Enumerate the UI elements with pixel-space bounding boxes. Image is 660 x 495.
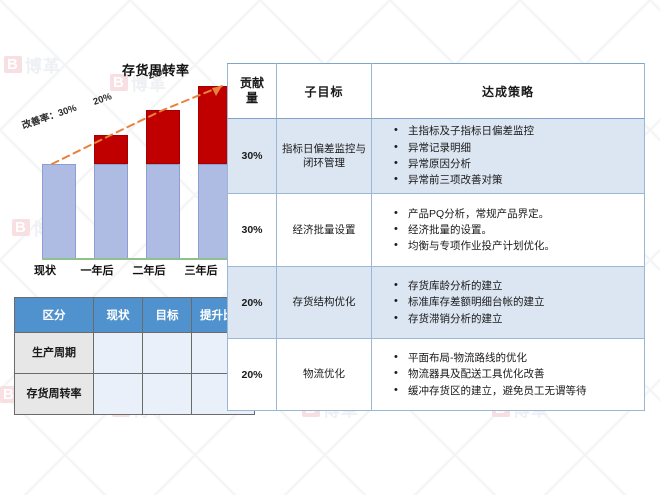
cell-sub-goal: 物流优化 xyxy=(277,339,372,411)
col-header-category: 区分 xyxy=(15,298,94,333)
cell-current[interactable] xyxy=(94,333,143,374)
table-header-row: 区分 现状 目标 提升比例 xyxy=(15,298,255,333)
table-row: 存货周转率 xyxy=(15,374,255,415)
list-item: 异常原因分析 xyxy=(394,156,638,172)
chart-category-label-3: 三年后 xyxy=(173,262,229,278)
table-row: 20% 存货结构优化 存货库龄分析的建立 标准库存差额明细台帐的建立 存货滞销分… xyxy=(228,267,645,339)
table-row: 30% 指标日偏差监控与闭环管理 主指标及子指标日偏差监控 异常记录明细 异常原… xyxy=(228,119,645,194)
slide-canvas: 存货周转率 xyxy=(0,0,660,495)
list-item: 存货滞销分析的建立 xyxy=(394,311,638,327)
strategy-table: 贡献 量 子目标 达成策略 30% 指标日偏差监控与闭环管理 主指标及子指标日偏… xyxy=(227,63,645,411)
cell-current[interactable] xyxy=(94,374,143,415)
chart-category-label-0: 现状 xyxy=(17,262,73,278)
inventory-turnover-chart: 存货周转率 xyxy=(0,48,228,280)
strategy-list: 平面布局-物流路线的优化 物流器具及配送工具优化改善 缓冲存货区的建立，避免员工… xyxy=(394,350,638,399)
cell-contribution: 20% xyxy=(228,339,277,411)
list-item: 平面布局-物流路线的优化 xyxy=(394,350,638,366)
list-item: 物流器具及配送工具优化改善 xyxy=(394,366,638,382)
col-header-sub-goal: 子目标 xyxy=(277,64,372,119)
cell-strategies: 主指标及子指标日偏差监控 异常记录明细 异常原因分析 异常前三项改善对策 xyxy=(372,119,645,194)
row-label-inventory-turnover: 存货周转率 xyxy=(15,374,94,415)
cell-strategies: 产品PQ分析，常规产品界定。 经济批量的设置。 均衡与专项作业投产计划优化。 xyxy=(372,194,645,267)
cell-target[interactable] xyxy=(143,374,192,415)
cell-sub-goal: 指标日偏差监控与闭环管理 xyxy=(277,119,372,194)
strategy-list: 产品PQ分析，常规产品界定。 经济批量的设置。 均衡与专项作业投产计划优化。 xyxy=(394,206,638,255)
cell-contribution: 30% xyxy=(228,119,277,194)
strategy-list: 存货库龄分析的建立 标准库存差额明细台帐的建立 存货滞销分析的建立 xyxy=(394,278,638,327)
list-item: 异常记录明细 xyxy=(394,140,638,156)
row-label-production-cycle: 生产周期 xyxy=(15,333,94,374)
table-row: 20% 物流优化 平面布局-物流路线的优化 物流器具及配送工具优化改善 缓冲存货… xyxy=(228,339,645,411)
list-item: 存货库龄分析的建立 xyxy=(394,278,638,294)
cell-sub-goal: 经济批量设置 xyxy=(277,194,372,267)
summary-table: 区分 现状 目标 提升比例 生产周期 存货周转率 xyxy=(14,297,255,415)
list-item: 产品PQ分析，常规产品界定。 xyxy=(394,206,638,222)
col-header-contribution: 贡献 量 xyxy=(228,64,277,119)
trend-line xyxy=(24,48,252,262)
list-item: 缓冲存货区的建立，避免员工无谓等待 xyxy=(394,383,638,399)
cell-strategies: 存货库龄分析的建立 标准库存差额明细台帐的建立 存货滞销分析的建立 xyxy=(372,267,645,339)
cell-contribution: 20% xyxy=(228,267,277,339)
list-item: 主指标及子指标日偏差监控 xyxy=(394,123,638,139)
strategy-table-header-row: 贡献 量 子目标 达成策略 xyxy=(228,64,645,119)
list-item: 标准库存差额明细台帐的建立 xyxy=(394,294,638,310)
strategy-list: 主指标及子指标日偏差监控 异常记录明细 异常原因分析 异常前三项改善对策 xyxy=(394,123,638,188)
cell-strategies: 平面布局-物流路线的优化 物流器具及配送工具优化改善 缓冲存货区的建立，避免员工… xyxy=(372,339,645,411)
chart-category-label-1: 一年后 xyxy=(69,262,125,278)
table-row: 30% 经济批量设置 产品PQ分析，常规产品界定。 经济批量的设置。 均衡与专项… xyxy=(228,194,645,267)
col-header-target: 目标 xyxy=(143,298,192,333)
col-header-current: 现状 xyxy=(94,298,143,333)
list-item: 经济批量的设置。 xyxy=(394,222,638,238)
cell-contribution: 30% xyxy=(228,194,277,267)
col-header-strategy: 达成策略 xyxy=(372,64,645,119)
list-item: 均衡与专项作业投产计划优化。 xyxy=(394,238,638,254)
chart-plot-area xyxy=(24,48,214,260)
cell-target[interactable] xyxy=(143,333,192,374)
cell-sub-goal: 存货结构优化 xyxy=(277,267,372,339)
chart-category-label-2: 二年后 xyxy=(121,262,177,278)
list-item: 异常前三项改善对策 xyxy=(394,172,638,188)
contribution-header-line2: 量 xyxy=(246,91,258,105)
table-row: 生产周期 xyxy=(15,333,255,374)
contribution-header-line1: 贡献 xyxy=(240,76,264,90)
